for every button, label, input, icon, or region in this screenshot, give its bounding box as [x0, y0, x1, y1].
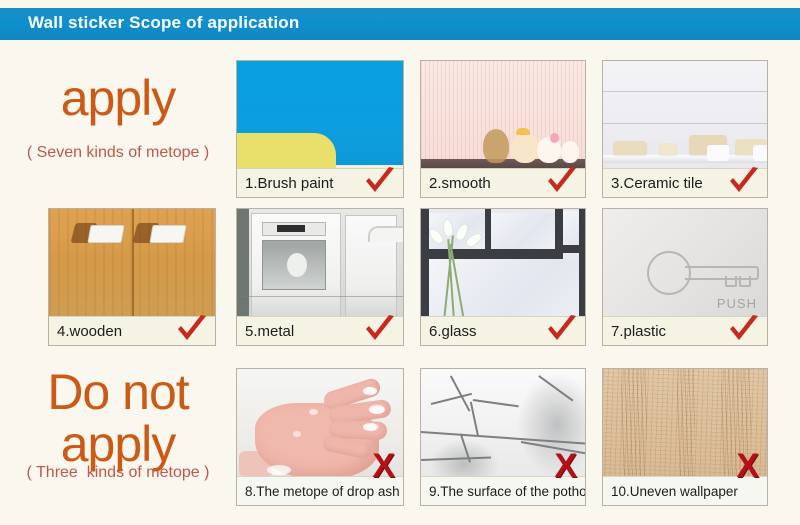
check-icon — [175, 314, 209, 344]
cell-metal[interactable]: 5.metal — [236, 208, 404, 346]
shelf-cup — [753, 145, 767, 161]
cell-label-text: 5.metal — [237, 323, 294, 340]
fridge-left-door — [251, 213, 341, 319]
shelf — [603, 155, 767, 163]
ash-speck — [267, 465, 291, 475]
cross-icon: X — [736, 449, 759, 483]
crack-line — [470, 402, 479, 436]
check-icon — [363, 166, 397, 196]
figurine-c — [561, 141, 579, 163]
cell-label-text: 9.The surface of the potholes — [421, 484, 586, 499]
cell-label-text: 4.wooden — [49, 323, 122, 340]
cross-icon: X — [554, 449, 577, 483]
figurine-b — [537, 137, 561, 163]
do-not-apply-line1: Do not — [0, 366, 236, 418]
decor-blob — [483, 129, 509, 163]
window-frame — [485, 209, 491, 253]
ash-speck — [363, 423, 378, 431]
cell-label-text: 2.smooth — [421, 175, 491, 192]
ash-speck — [363, 387, 377, 395]
figurine-a — [511, 133, 539, 163]
apply-heading: apply — [0, 72, 236, 124]
cell-label-text: 8.The metope of drop ash — [237, 484, 400, 499]
cell-wooden[interactable]: 4.wooden — [48, 208, 216, 346]
page-title: Wall sticker Scope of application — [28, 13, 299, 33]
fridge-side-shadow — [237, 209, 249, 319]
dispenser-panel — [262, 222, 326, 236]
cell-ceramic-tile[interactable]: 3.Ceramic tile — [602, 60, 768, 198]
door-handle — [149, 225, 186, 243]
tile-grout-line — [603, 91, 767, 92]
crack-line — [473, 399, 519, 407]
cell-uneven-wallpaper[interactable]: 10.Uneven wallpaper X — [602, 368, 768, 506]
cell-potholes[interactable]: 9.The surface of the potholes X — [420, 368, 586, 506]
window-frame — [421, 249, 563, 259]
key-tooth — [739, 276, 751, 287]
cross-icon: X — [372, 449, 395, 483]
cell-label-text: 10.Uneven wallpaper — [603, 484, 738, 499]
shelf-item — [613, 141, 647, 155]
cell-label-text: 1.Brush paint — [237, 175, 333, 192]
check-icon — [545, 314, 579, 344]
key-tooth — [725, 276, 737, 287]
tile-grout-line — [603, 123, 767, 124]
window-frame — [579, 209, 585, 333]
check-icon — [363, 314, 397, 344]
figurine-hat — [516, 128, 530, 135]
door-handle — [87, 225, 124, 243]
window-pane — [491, 213, 555, 249]
push-label: PUSH — [717, 296, 757, 311]
fridge-right-door — [345, 215, 397, 319]
check-icon — [727, 314, 761, 344]
shelf-cup — [707, 145, 729, 161]
cell-label-text: 7.plastic — [603, 323, 666, 340]
ash-speck — [369, 405, 385, 414]
ash-speck — [309, 409, 318, 415]
ash-speck — [293, 431, 301, 437]
cell-brush-paint[interactable]: 1.Brush paint — [236, 60, 404, 198]
shelf-item — [659, 143, 677, 155]
do-not-apply-subheading: ( Three kinds of metope ) — [0, 463, 236, 483]
water-dispenser — [262, 240, 326, 290]
cell-label-text: 6.glass — [421, 323, 477, 340]
poster-root: Wall sticker Scope of application apply … — [0, 0, 800, 525]
cell-label-text: 3.Ceramic tile — [603, 175, 703, 192]
cell-smooth[interactable]: 2.smooth — [420, 60, 586, 198]
check-icon — [545, 166, 579, 196]
cell-drop-ash[interactable]: 8.The metope of drop ash X — [236, 368, 404, 506]
dispenser-bowl — [287, 253, 307, 277]
fridge-divider — [237, 296, 403, 297]
dispenser-screen — [277, 225, 305, 232]
apply-subheading: ( Seven kinds of metope ) — [0, 143, 236, 163]
fridge-handle — [368, 226, 403, 242]
window-frame — [421, 209, 429, 333]
cell-glass[interactable]: 6.glass — [420, 208, 586, 346]
check-icon — [727, 166, 761, 196]
do-not-apply-heading: Do not apply — [0, 366, 236, 470]
figurine-ear — [550, 133, 559, 143]
cell-plastic[interactable]: PUSH 7.plastic — [602, 208, 768, 346]
